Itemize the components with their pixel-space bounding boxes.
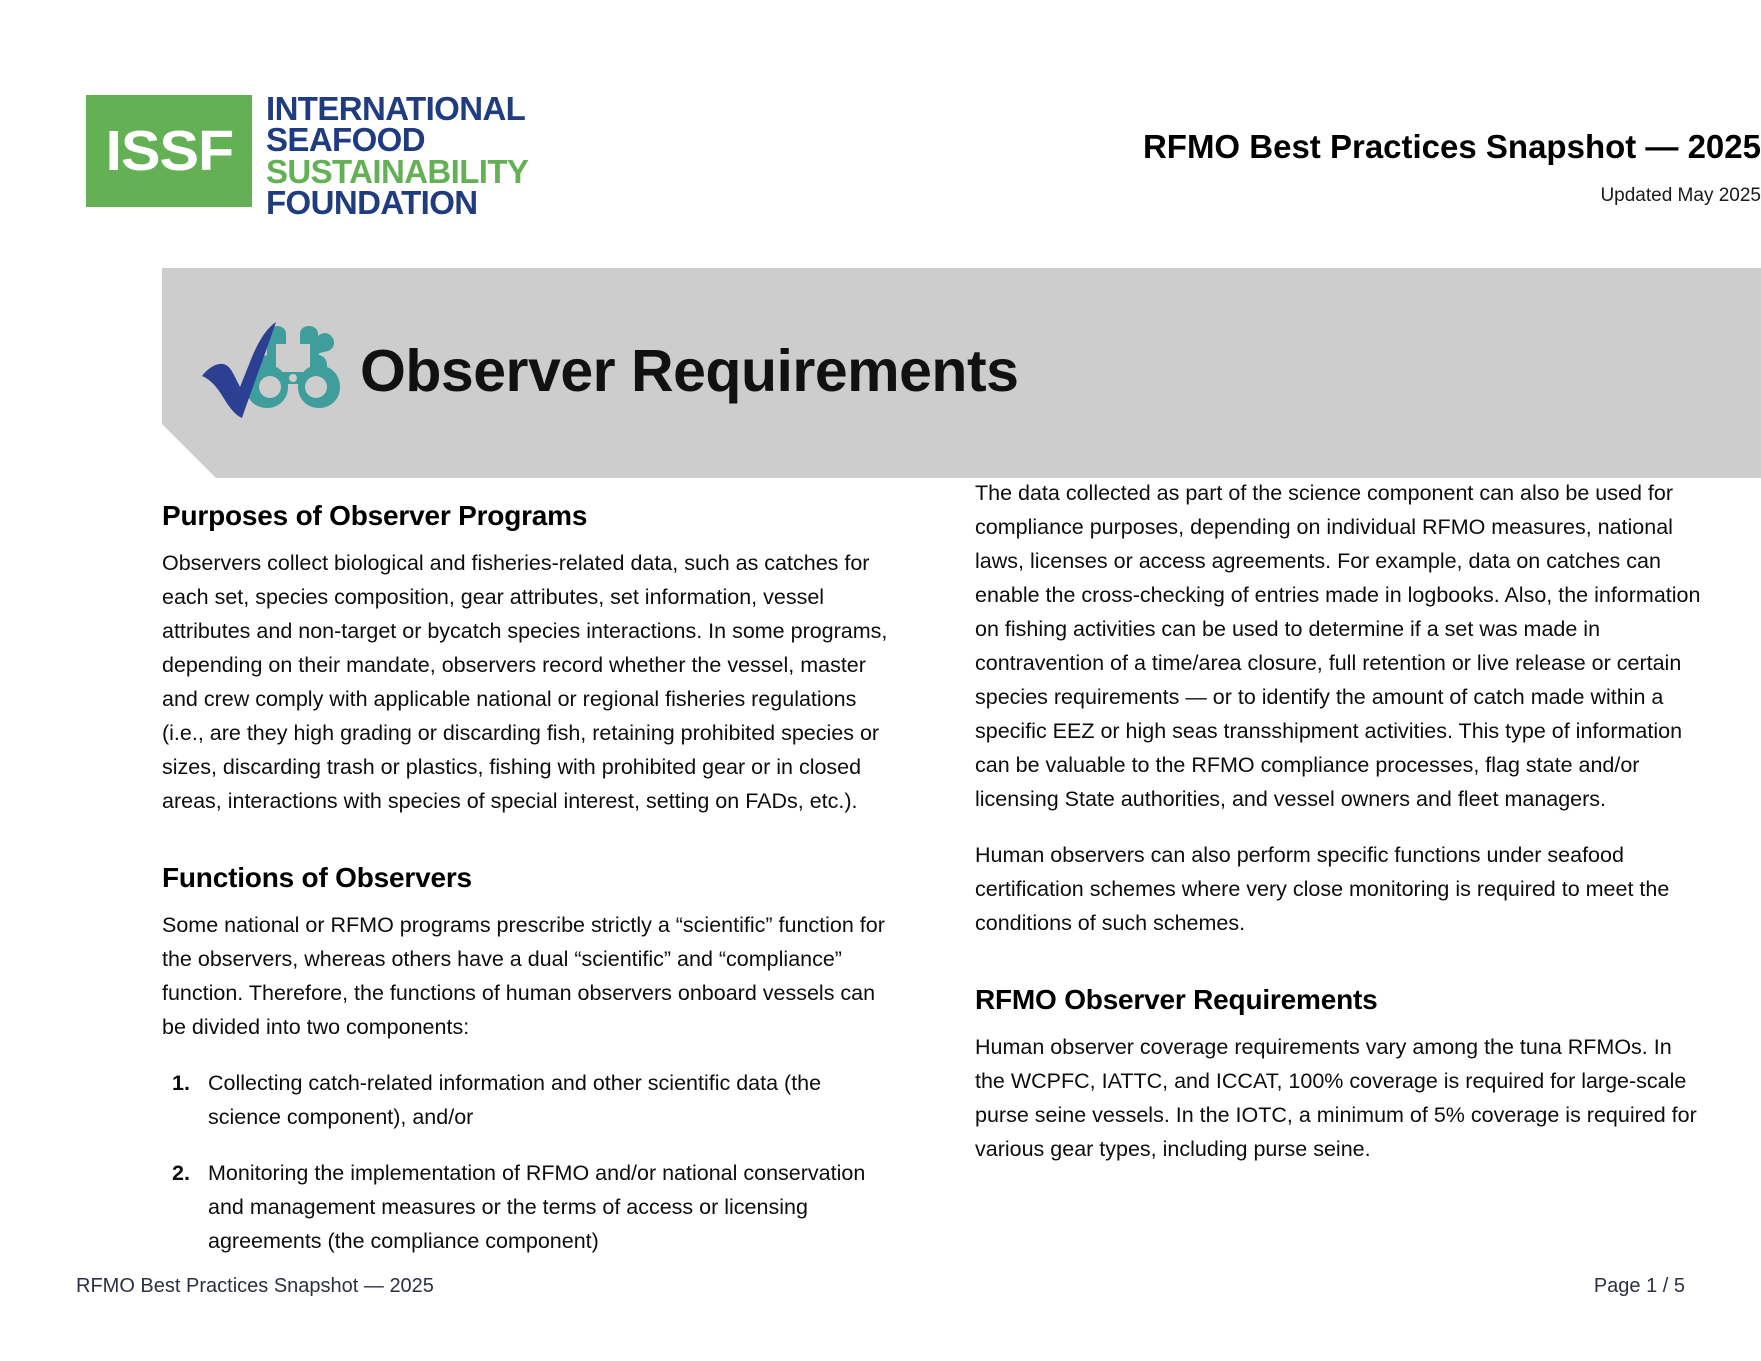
issf-logo-mark: ISSF xyxy=(86,95,252,207)
list-item-number: 1. xyxy=(172,1066,190,1100)
list-item: 2. Monitoring the implementation of RFMO… xyxy=(162,1156,892,1258)
issf-word-sustainability: SUSTAINABILITY xyxy=(266,156,528,187)
paragraph-rfmo-observer-requirements: Human observer coverage requirements var… xyxy=(975,1030,1705,1166)
heading-rfmo-observer-requirements: RFMO Observer Requirements xyxy=(975,984,1705,1016)
section-banner: Observer Requirements xyxy=(162,268,1761,478)
left-column: Purposes of Observer Programs Observers … xyxy=(162,500,892,1258)
footer-page-number: Page 1 / 5 xyxy=(1594,1275,1685,1298)
heading-functions-of-observers: Functions of Observers xyxy=(162,862,892,894)
section-banner-inner: Observer Requirements xyxy=(198,268,1018,478)
heading-purposes-of-observer-programs: Purposes of Observer Programs xyxy=(162,500,892,532)
page-header: ISSF INTERNATIONAL SEAFOOD SUSTAINABILIT… xyxy=(0,0,1761,230)
issf-logo-mark-text: ISSF xyxy=(105,123,233,180)
footer-document-label: RFMO Best Practices Snapshot — 2025 xyxy=(76,1275,434,1298)
list-item-label: Monitoring the implementation of RFMO an… xyxy=(208,1161,865,1253)
issf-logo: ISSF INTERNATIONAL SEAFOOD SUSTAINABILIT… xyxy=(86,95,528,218)
functions-list: 1. Collecting catch-related information … xyxy=(162,1066,892,1258)
paragraph-functions-of-observers: Some national or RFMO programs prescribe… xyxy=(162,908,892,1044)
paragraph-seafood-certification: Human observers can also perform specifi… xyxy=(975,838,1705,940)
issf-word-foundation: FOUNDATION xyxy=(266,187,528,218)
list-item-number: 2. xyxy=(172,1156,190,1190)
list-item: 1. Collecting catch-related information … xyxy=(162,1066,892,1134)
issf-word-international: INTERNATIONAL xyxy=(266,93,528,124)
page-footer: RFMO Best Practices Snapshot — 2025 Page… xyxy=(0,1251,1761,1361)
paragraph-science-compliance-data: The data collected as part of the scienc… xyxy=(975,476,1705,816)
section-banner-title: Observer Requirements xyxy=(360,342,1018,405)
right-column: The data collected as part of the scienc… xyxy=(975,476,1705,1166)
issf-word-seafood: SEAFOOD xyxy=(266,124,528,155)
document-updated-date: Updated May 2025 xyxy=(1600,185,1761,207)
document-title: RFMO Best Practices Snapshot — 2025 xyxy=(1143,128,1761,166)
paragraph-purposes-of-observer-programs: Observers collect biological and fisheri… xyxy=(162,546,892,818)
list-item-label: Collecting catch-related information and… xyxy=(208,1071,821,1129)
issf-logo-wordmark: INTERNATIONAL SEAFOOD SUSTAINABILITY FOU… xyxy=(266,93,528,218)
checkmark-binoculars-icon xyxy=(198,318,350,428)
